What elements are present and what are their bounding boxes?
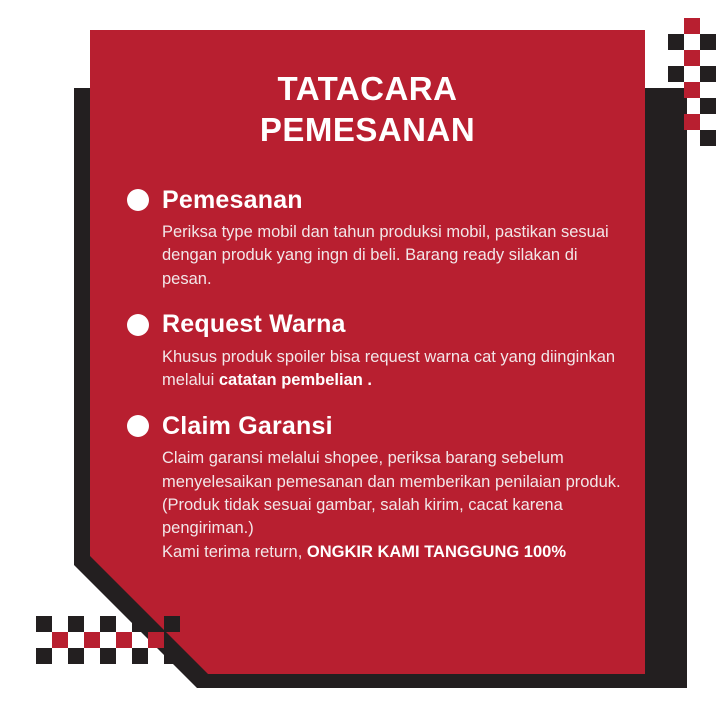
section-paragraph: Claim garansi melalui shopee, periksa ba…: [162, 447, 623, 494]
checker-cell: [684, 130, 700, 146]
section-title: Claim Garansi: [162, 413, 333, 441]
emphasis-text: catatan pembelian .: [219, 371, 372, 389]
checker-cell: [684, 50, 700, 66]
section-paragraph: Periksa type mobil dan tahun produksi mo…: [162, 221, 623, 291]
bullet-dot-icon: [127, 189, 149, 211]
page-title-line-2: PEMESANAN: [90, 109, 645, 150]
checker-cell: [684, 18, 700, 34]
checker-cell: [668, 18, 684, 34]
body-text: Kami terima return,: [162, 543, 307, 561]
checker-cell: [36, 648, 52, 664]
section-paragraph: Kami terima return, ONGKIR KAMI TANGGUNG…: [162, 541, 623, 564]
page-title: TATACARA PEMESANAN: [90, 30, 645, 151]
checker-flag-top-right: [668, 18, 716, 146]
section-body: Khusus produk spoiler bisa request warna…: [162, 346, 623, 393]
list-item: Request WarnaKhusus produk spoiler bisa …: [127, 311, 623, 392]
section-title: Request Warna: [162, 311, 346, 339]
checker-cell: [684, 114, 700, 130]
checker-cell: [700, 50, 716, 66]
checker-cell: [668, 34, 684, 50]
checker-cell: [36, 632, 52, 648]
checker-cell: [668, 98, 684, 114]
poster-canvas: TATACARA PEMESANAN PemesananPeriksa type…: [0, 0, 726, 726]
checker-cell: [684, 82, 700, 98]
checker-cell: [700, 98, 716, 114]
emphasis-text: ONGKIR KAMI TANGGUNG 100%: [307, 543, 566, 561]
body-text: (Produk tidak sesuai gambar, salah kirim…: [162, 496, 563, 537]
checker-cell: [700, 130, 716, 146]
checker-cell: [668, 82, 684, 98]
section-body: Periksa type mobil dan tahun produksi mo…: [162, 221, 623, 291]
section-body: Claim garansi melalui shopee, periksa ba…: [162, 447, 623, 564]
checker-cell: [684, 66, 700, 82]
section-title: Pemesanan: [162, 187, 303, 215]
checker-cell: [700, 114, 716, 130]
section-header: Request Warna: [127, 311, 623, 339]
poster-content: TATACARA PEMESANAN PemesananPeriksa type…: [90, 30, 645, 674]
body-text: Periksa type mobil dan tahun produksi mo…: [162, 223, 609, 288]
list-item: PemesananPeriksa type mobil dan tahun pr…: [127, 187, 623, 292]
section-header: Pemesanan: [127, 187, 623, 215]
checker-cell: [684, 34, 700, 50]
checker-cell: [700, 18, 716, 34]
section-paragraph: Khusus produk spoiler bisa request warna…: [162, 346, 623, 393]
checker-cell: [700, 66, 716, 82]
page-title-line-1: TATACARA: [90, 68, 645, 109]
checker-cell: [668, 66, 684, 82]
checker-cell: [52, 648, 68, 664]
checker-cell: [700, 82, 716, 98]
checker-cell: [684, 98, 700, 114]
checker-cell: [52, 616, 68, 632]
section-header: Claim Garansi: [127, 413, 623, 441]
bullet-dot-icon: [127, 314, 149, 336]
list-item: Claim GaransiClaim garansi melalui shope…: [127, 413, 623, 565]
checker-cell: [668, 114, 684, 130]
checker-cell: [668, 130, 684, 146]
checker-cell: [68, 616, 84, 632]
body-text: Claim garansi melalui shopee, periksa ba…: [162, 449, 621, 490]
checker-cell: [36, 616, 52, 632]
section-list: PemesananPeriksa type mobil dan tahun pr…: [90, 187, 645, 565]
checker-cell: [68, 632, 84, 648]
checker-cell: [668, 50, 684, 66]
checker-cell: [52, 632, 68, 648]
checker-cell: [68, 648, 84, 664]
section-paragraph: (Produk tidak sesuai gambar, salah kirim…: [162, 494, 623, 541]
checker-cell: [700, 34, 716, 50]
bullet-dot-icon: [127, 415, 149, 437]
